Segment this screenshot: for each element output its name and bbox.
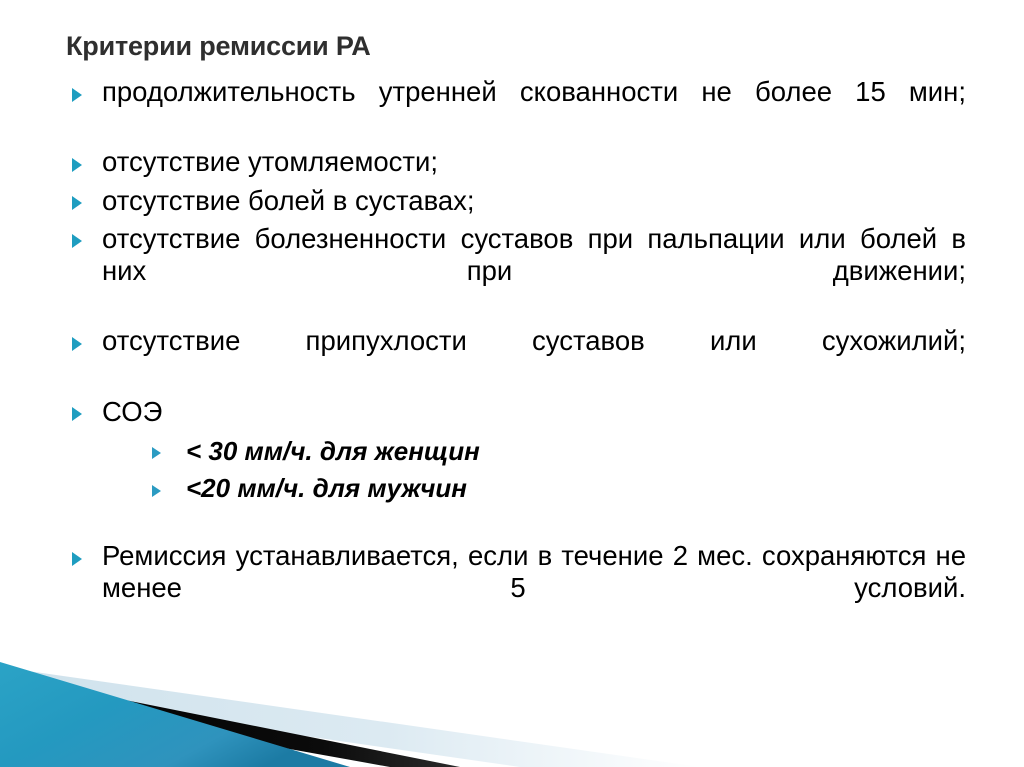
page-title: Критерии ремиссии РА	[66, 32, 966, 62]
list-item-closing: Ремиссия устанавливается, если в течение…	[66, 540, 966, 637]
list-item-label: отсутствие болезненности суставов при па…	[102, 223, 966, 320]
list-item-label: отсутствие болей в суставах;	[102, 185, 966, 217]
slide-body: продолжительность утренней скованности н…	[66, 76, 966, 643]
corner-decoration-graphic	[0, 637, 1024, 767]
list-item: отсутствие утомляемости;	[66, 146, 966, 178]
bullet-triangle-icon	[72, 552, 82, 566]
list-item-label: отсутствие припухлости суставов или сухо…	[102, 325, 966, 389]
sub-bullet-triangle-icon	[152, 485, 161, 497]
bullet-triangle-icon	[72, 234, 82, 248]
list-item-label: СОЭ	[102, 396, 966, 428]
list-item-label: продолжительность утренней скованности н…	[102, 76, 966, 140]
bullet-triangle-icon	[72, 196, 82, 210]
sub-list-item: <20 мм/ч. для мужчин	[102, 473, 966, 504]
bullet-list: продолжительность утренней скованности н…	[66, 76, 966, 637]
sub-list-item-label: < 30 мм/ч. для женщин	[186, 436, 480, 466]
list-spacer	[66, 510, 966, 540]
list-item: отсутствие болей в суставах;	[66, 185, 966, 217]
list-item: отсутствие болезненности суставов при па…	[66, 223, 966, 320]
sub-bullet-triangle-icon	[152, 447, 161, 459]
bullet-triangle-icon	[72, 407, 82, 421]
bullet-triangle-icon	[72, 158, 82, 172]
sub-list-item: < 30 мм/ч. для женщин	[102, 436, 966, 467]
list-item: отсутствие припухлости суставов или сухо…	[66, 325, 966, 389]
list-item-label: Ремиссия устанавливается, если в течение…	[102, 540, 966, 637]
teal-triangle	[0, 662, 350, 767]
slide: Критерии ремиссии РА продолжительность у…	[0, 0, 1024, 767]
list-item-soe: СОЭ < 30 мм/ч. для женщин <20 мм/ч. для …	[66, 396, 966, 505]
pale-blue-band	[0, 667, 700, 767]
list-item-label: отсутствие утомляемости;	[102, 146, 966, 178]
sub-list-item-label: <20 мм/ч. для мужчин	[186, 473, 467, 503]
bullet-triangle-icon	[72, 337, 82, 351]
bullet-triangle-icon	[72, 88, 82, 102]
black-stripe	[0, 675, 460, 767]
sub-bullet-list: < 30 мм/ч. для женщин <20 мм/ч. для мужч…	[102, 436, 966, 504]
list-item: продолжительность утренней скованности н…	[66, 76, 966, 140]
